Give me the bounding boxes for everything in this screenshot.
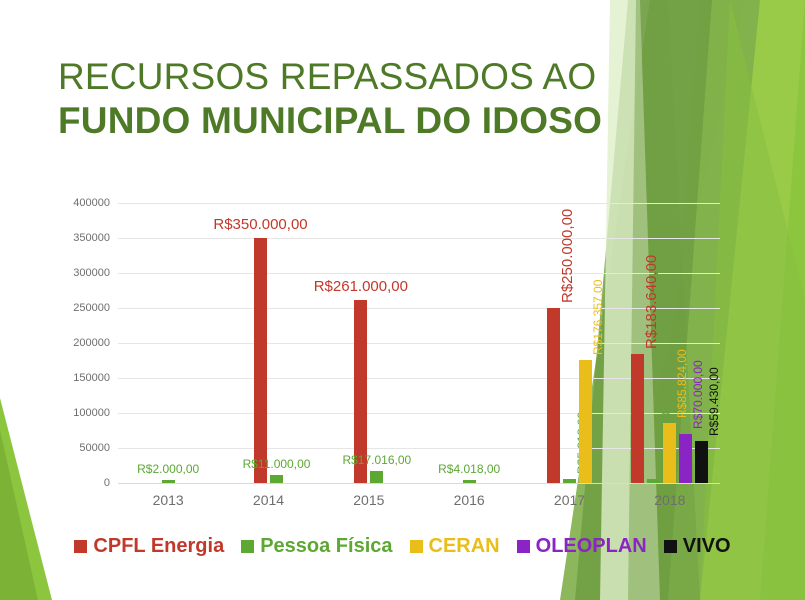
gridline — [118, 343, 720, 344]
bar-value-label: R$261.000,00 — [314, 278, 408, 295]
x-axis-tick-label: 2017 — [520, 492, 620, 508]
bar-pessoa-2015[interactable] — [370, 471, 383, 483]
legend-swatch-icon — [410, 540, 423, 553]
slide-canvas: RECURSOS REPASSADOS AO FUNDO MUNICIPAL D… — [0, 0, 805, 600]
bar-cpfl-2014[interactable] — [254, 238, 267, 483]
y-axis-tick-label: 300000 — [46, 267, 110, 279]
legend-label: VIVO — [683, 535, 731, 558]
bar-value-label: R$2.000,00 — [137, 462, 199, 476]
page-title: RECURSOS REPASSADOS AO FUNDO MUNICIPAL D… — [58, 55, 678, 143]
x-axis-tick-label: 2018 — [620, 492, 720, 508]
bar-value-label: R$17.016,00 — [342, 453, 411, 467]
gridline — [118, 238, 720, 239]
y-axis-tick-label: 0 — [46, 477, 110, 489]
bar-value-label: R$4.018,00 — [438, 462, 500, 476]
gridline — [118, 448, 720, 449]
x-axis-tick-label: 2013 — [118, 492, 218, 508]
bar-value-label: R$250.000,00 — [559, 209, 576, 303]
bar-value-label: R$183.640,00 — [643, 255, 660, 349]
bar-value-label: R$85.824,00 — [675, 349, 689, 418]
gridline — [118, 308, 720, 309]
bar-ceran-2017[interactable] — [579, 360, 592, 483]
x-axis-tick-label: 2014 — [219, 492, 319, 508]
legend-swatch-icon — [517, 540, 530, 553]
y-axis-tick-label: 400000 — [46, 197, 110, 209]
gridline — [118, 413, 720, 414]
bar-value-label: R$11.000,00 — [243, 457, 311, 471]
bar-pessoa-2013[interactable] — [162, 480, 175, 483]
title-line-2: FUNDO MUNICIPAL DO IDOSO — [58, 99, 678, 143]
gridline — [118, 273, 720, 274]
y-axis-tick-label: 350000 — [46, 232, 110, 244]
y-axis-tick-label: 50000 — [46, 442, 110, 454]
legend-item-oleoplan[interactable]: OLEOPLAN — [517, 535, 647, 558]
bar-cpfl-2018[interactable] — [631, 354, 644, 483]
y-axis-tick-label: 250000 — [46, 302, 110, 314]
bar-value-label: R$70.000,00 — [691, 360, 705, 429]
title-line-1: RECURSOS REPASSADOS AO — [58, 55, 678, 99]
legend-item-vivo[interactable]: VIVO — [664, 535, 731, 558]
y-axis-tick-label: 100000 — [46, 407, 110, 419]
x-axis-tick-label: 2015 — [319, 492, 419, 508]
y-axis-tick-label: 200000 — [46, 337, 110, 349]
legend-item-ceran[interactable]: CERAN — [410, 535, 500, 558]
bar-pessoa-2018[interactable] — [647, 479, 660, 483]
x-axis-tick-label: 2016 — [419, 492, 519, 508]
chart-legend: CPFL EnergiaPessoa FísicaCERANOLEOPLANVI… — [0, 535, 805, 558]
bar-value-label: R$350.000,00 — [213, 216, 307, 233]
legend-item-cpfl-energia[interactable]: CPFL Energia — [74, 535, 224, 558]
gridline — [118, 378, 720, 379]
legend-swatch-icon — [241, 540, 254, 553]
gridline — [118, 203, 720, 204]
legend-swatch-icon — [664, 540, 677, 553]
legend-swatch-icon — [74, 540, 87, 553]
bar-pessoa-2014[interactable] — [270, 475, 283, 483]
bar-pessoa-2016[interactable] — [463, 480, 476, 483]
gridline — [118, 483, 720, 484]
bar-pessoa-2017[interactable] — [563, 479, 576, 483]
legend-label: CPFL Energia — [93, 535, 224, 558]
plot-area: R$2.000,00R$350.000,00R$11.000,00R$261.0… — [118, 203, 720, 483]
legend-item-pessoa-física[interactable]: Pessoa Física — [241, 535, 392, 558]
bar-oleoplan-2018[interactable] — [679, 434, 692, 483]
legend-label: OLEOPLAN — [536, 535, 647, 558]
legend-label: Pessoa Física — [260, 535, 392, 558]
y-axis-tick-label: 150000 — [46, 372, 110, 384]
bar-value-label: R$59.430,00 — [707, 368, 721, 437]
bar-value-label: R$176.357,00 — [591, 279, 605, 354]
bar-cpfl-2017[interactable] — [547, 308, 560, 483]
bar-vivo-2018[interactable] — [695, 441, 708, 483]
bar-ceran-2018[interactable] — [663, 423, 676, 483]
legend-label: CERAN — [429, 535, 500, 558]
